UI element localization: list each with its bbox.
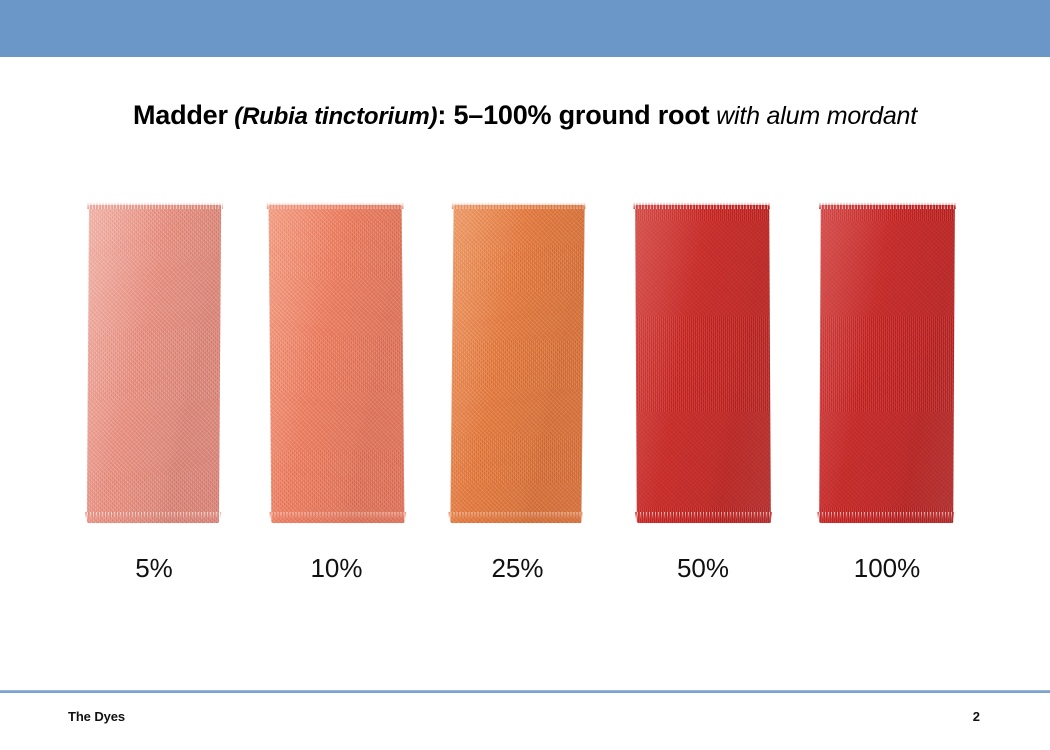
fabric-swatch bbox=[87, 205, 221, 523]
fabric-swatch bbox=[635, 205, 771, 523]
title-range-text: 5–100% ground root bbox=[453, 100, 709, 130]
fray-edge-top bbox=[452, 202, 587, 209]
title-range: 5–100% ground root bbox=[446, 100, 709, 130]
swatch-label: 10% bbox=[270, 553, 403, 584]
swatch-label: 5% bbox=[88, 553, 220, 584]
swatch-cell-100: 100% bbox=[820, 205, 954, 530]
fray-edge-bottom bbox=[269, 512, 406, 519]
title-separator: : bbox=[437, 100, 446, 130]
slide-canvas: Madder (Rubia tinctorium): 5–100% ground… bbox=[0, 0, 1050, 750]
fray-edge-top bbox=[819, 202, 957, 209]
fray-edge-bottom bbox=[635, 512, 773, 519]
title-botanical-name-text: (Rubia tinctorium) bbox=[234, 103, 437, 130]
fray-edge-top bbox=[633, 202, 771, 209]
title-area: Madder (Rubia tinctorium): 5–100% ground… bbox=[0, 98, 1050, 134]
fray-edge-bottom bbox=[817, 512, 955, 519]
swatch-cell-5: 5% bbox=[88, 205, 220, 530]
title-qualifier-text: with alum mordant bbox=[716, 102, 917, 130]
title-dye-name: Madder bbox=[133, 100, 228, 130]
fabric-swatch bbox=[269, 205, 405, 523]
page-number: 2 bbox=[973, 709, 980, 724]
footer-divider bbox=[0, 690, 1050, 693]
swatch-label: 25% bbox=[452, 553, 583, 584]
top-banner bbox=[0, 0, 1050, 57]
title-botanical-name: (Rubia tinctorium) bbox=[228, 103, 438, 130]
fabric-swatch bbox=[819, 205, 955, 523]
swatch-cell-50: 50% bbox=[636, 205, 770, 530]
page-title: Madder (Rubia tinctorium): 5–100% ground… bbox=[133, 98, 917, 134]
fray-edge-bottom bbox=[85, 512, 221, 519]
title-qualifier: with alum mordant bbox=[709, 102, 917, 130]
swatch-cell-25: 25% bbox=[452, 205, 583, 530]
swatch-label: 50% bbox=[636, 553, 770, 584]
fray-edge-top bbox=[87, 202, 223, 209]
fray-edge-top bbox=[267, 202, 404, 209]
fray-edge-bottom bbox=[448, 512, 583, 519]
swatch-label: 100% bbox=[820, 553, 954, 584]
swatch-row: 5% 10% 25% 50% bbox=[0, 205, 1050, 530]
swatch-cell-10: 10% bbox=[270, 205, 403, 530]
fabric-swatch bbox=[450, 205, 584, 523]
footer-section-label: The Dyes bbox=[68, 709, 125, 724]
